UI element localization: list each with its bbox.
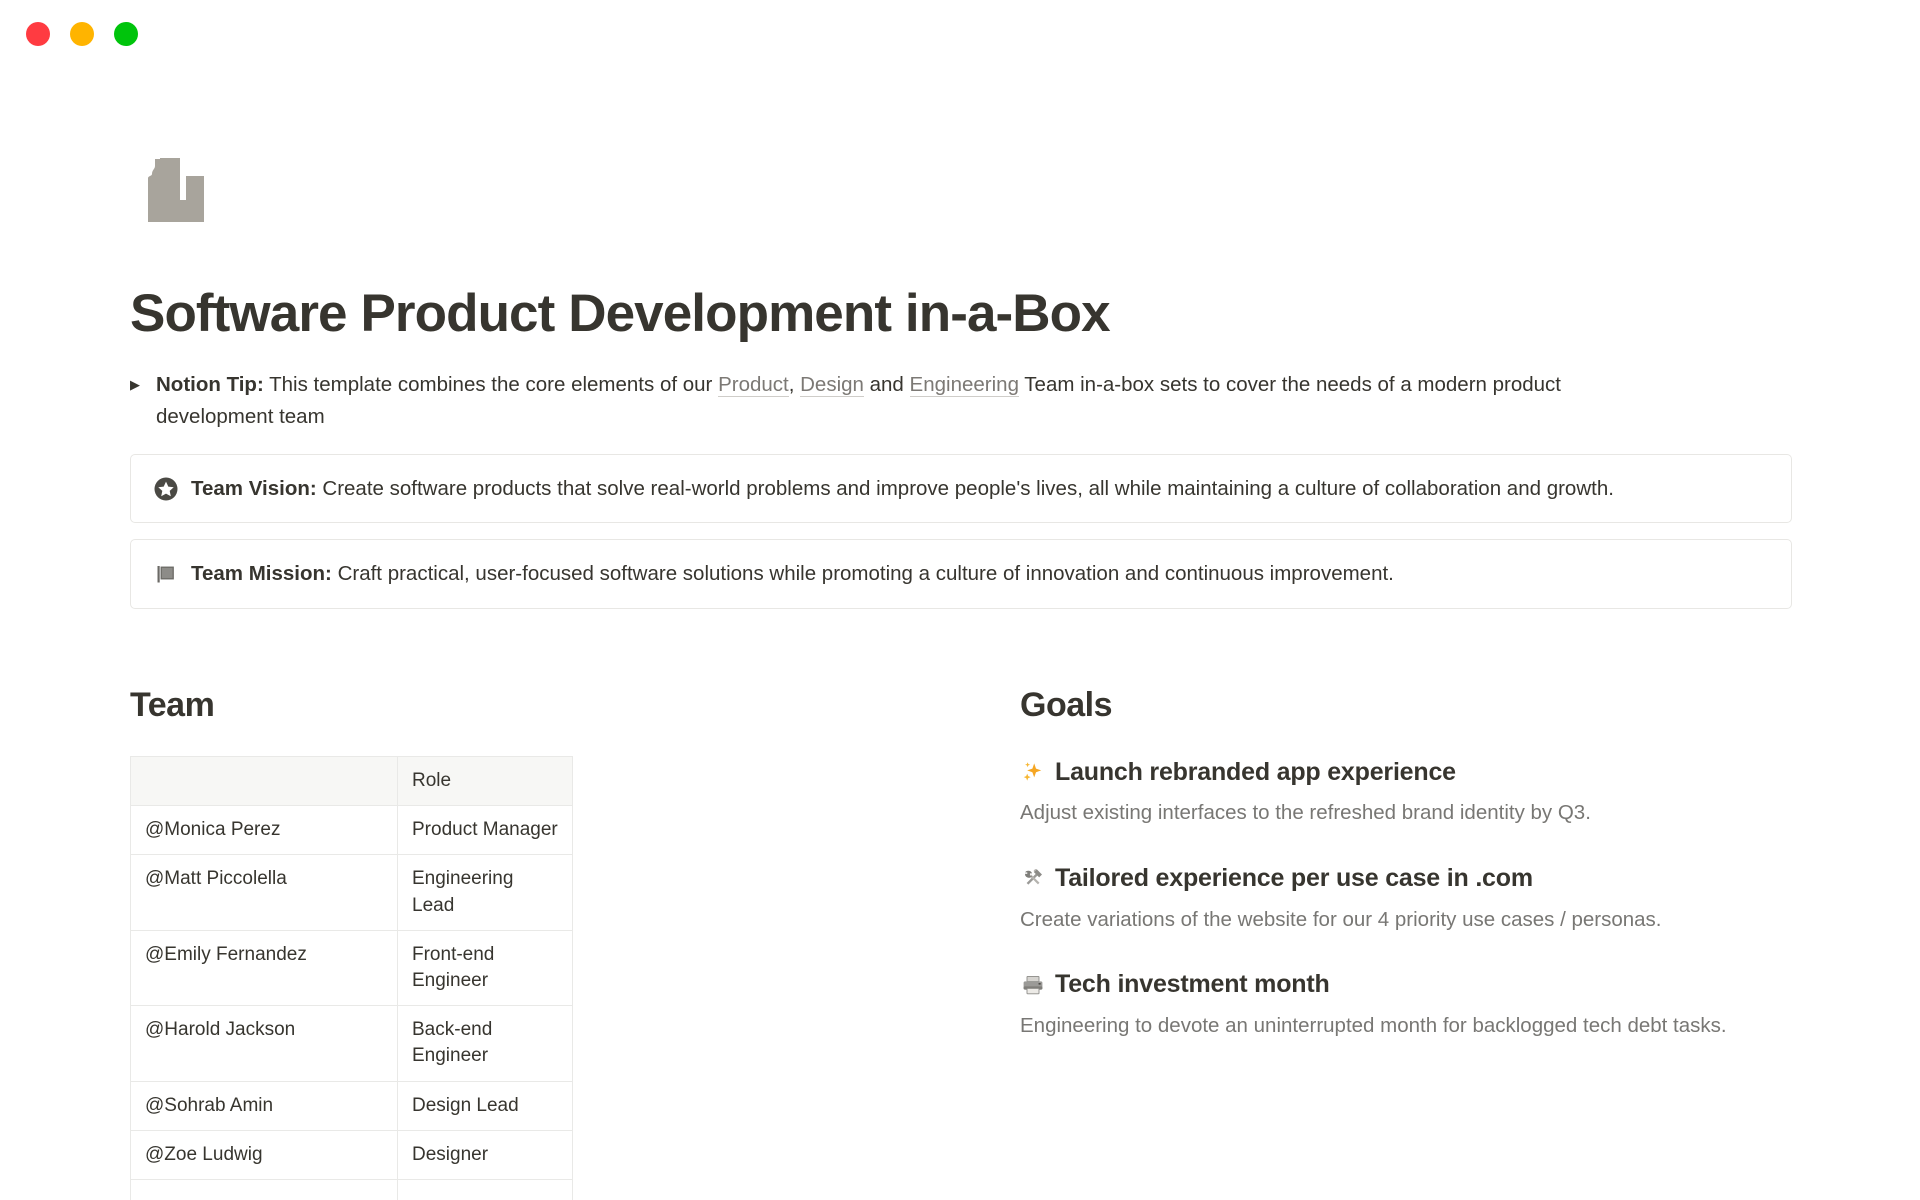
team-member-name[interactable]: @Matt Piccolella — [131, 855, 398, 930]
factory-icon[interactable] — [130, 140, 216, 226]
window-titlebar — [0, 0, 1920, 68]
team-member-name[interactable]: @Monica Perez — [131, 806, 398, 855]
flag-icon — [153, 560, 187, 588]
team-member-role[interactable]: Front-end Engineer — [398, 930, 573, 1005]
star-circle-icon — [153, 475, 187, 503]
team-member-role[interactable]: Designer — [398, 1130, 573, 1179]
goal-title: Launch rebranded app experience — [1020, 756, 1790, 789]
close-window-button[interactable] — [26, 22, 50, 46]
table-header-row: Role — [131, 756, 573, 805]
team-member-role[interactable]: Design Lead — [398, 1081, 573, 1130]
team-member-name[interactable]: @Sohrab Amin — [131, 1081, 398, 1130]
page-content: Software Product Development in-a-Box ▶ … — [130, 140, 1790, 1200]
goal-title: Tailored experience per use case in .com — [1020, 862, 1790, 895]
team-mission-label: Team Mission: — [191, 562, 332, 585]
team-member-role[interactable] — [398, 1180, 573, 1200]
team-member-role[interactable]: Engineering Lead — [398, 855, 573, 930]
notion-tip-toggle[interactable]: ▶ Notion Tip: This template combines the… — [130, 369, 1670, 431]
team-member-name[interactable]: @Zoe Ludwig — [131, 1130, 398, 1179]
minimize-window-button[interactable] — [70, 22, 94, 46]
team-member-role[interactable]: Back-end Engineer — [398, 1006, 573, 1081]
team-vision-label: Team Vision: — [191, 477, 317, 500]
table-row[interactable]: @Harold Jackson Back-end Engineer — [131, 1006, 573, 1081]
team-mission-text: Team Mission: Craft practical, user-focu… — [187, 559, 1394, 589]
table-row[interactable]: @Matt Piccolella Engineering Lead — [131, 855, 573, 930]
table-row[interactable]: @Monica Perez Product Manager — [131, 806, 573, 855]
team-heading: Team — [130, 685, 990, 726]
goal-title: Tech investment month — [1020, 968, 1790, 1001]
chevron-right-icon[interactable]: ▶ — [130, 378, 152, 391]
tip-separator-1: , — [789, 373, 800, 396]
table-row[interactable] — [131, 1180, 573, 1200]
goals-column: Goals Launch rebranded app experience A — [990, 685, 1790, 1200]
hammer-and-wrench-icon — [1020, 865, 1046, 891]
team-table[interactable]: Role @Monica Perez Product Manager @Matt… — [130, 756, 573, 1200]
team-table-body: @Monica Perez Product Manager @Matt Picc… — [131, 806, 573, 1200]
column-header-role[interactable]: Role — [398, 756, 573, 805]
team-vision-callout[interactable]: Team Vision: Create software products th… — [130, 454, 1792, 524]
team-member-name[interactable]: @Harold Jackson — [131, 1006, 398, 1081]
goals-heading: Goals — [1020, 685, 1790, 726]
team-mission-body: Craft practical, user-focused software s… — [332, 562, 1394, 585]
notion-tip-intro: This template combines the core elements… — [264, 373, 718, 396]
table-row[interactable]: @Sohrab Amin Design Lead — [131, 1081, 573, 1130]
goal-title-text: Launch rebranded app experience — [1055, 756, 1456, 789]
table-row[interactable]: @Zoe Ludwig Designer — [131, 1130, 573, 1179]
team-member-role[interactable]: Product Manager — [398, 806, 573, 855]
team-vision-text: Team Vision: Create software products th… — [187, 474, 1614, 504]
goal-description: Create variations of the website for our… — [1020, 905, 1790, 935]
link-design[interactable]: Design — [800, 373, 864, 397]
traffic-light-group — [26, 22, 138, 46]
column-header-name[interactable] — [131, 756, 398, 805]
team-vision-body: Create software products that solve real… — [317, 477, 1614, 500]
goal-title-text: Tech investment month — [1055, 968, 1330, 1001]
link-product[interactable]: Product — [718, 373, 789, 397]
goal-item[interactable]: Tailored experience per use case in .com… — [1020, 862, 1790, 934]
goal-title-text: Tailored experience per use case in .com — [1055, 862, 1533, 895]
team-table-head: Role — [131, 756, 573, 805]
page-container: Software Product Development in-a-Box ▶ … — [0, 140, 1920, 1200]
maximize-window-button[interactable] — [114, 22, 138, 46]
team-member-name[interactable]: @Emily Fernandez — [131, 930, 398, 1005]
tip-separator-2: and — [864, 373, 910, 396]
goal-description: Adjust existing interfaces to the refres… — [1020, 798, 1790, 828]
table-row[interactable]: @Emily Fernandez Front-end Engineer — [131, 930, 573, 1005]
goal-item[interactable]: Launch rebranded app experience Adjust e… — [1020, 756, 1790, 828]
team-mission-callout[interactable]: Team Mission: Craft practical, user-focu… — [130, 539, 1792, 609]
page-title: Software Product Development in-a-Box — [130, 284, 1790, 343]
two-column-layout: Team Role @Monica Perez Product Manager — [130, 685, 1790, 1200]
printer-icon — [1020, 972, 1046, 998]
team-member-name[interactable] — [131, 1180, 398, 1200]
goal-description: Engineering to devote an uninterrupted m… — [1020, 1011, 1790, 1041]
goal-item[interactable]: Tech investment month Engineering to dev… — [1020, 968, 1790, 1040]
team-column: Team Role @Monica Perez Product Manager — [130, 685, 990, 1200]
sparkles-icon — [1020, 759, 1046, 785]
notion-tip-label: Notion Tip: — [156, 373, 264, 396]
notion-tip-text: Notion Tip: This template combines the c… — [152, 369, 1670, 431]
link-engineering[interactable]: Engineering — [910, 373, 1019, 397]
